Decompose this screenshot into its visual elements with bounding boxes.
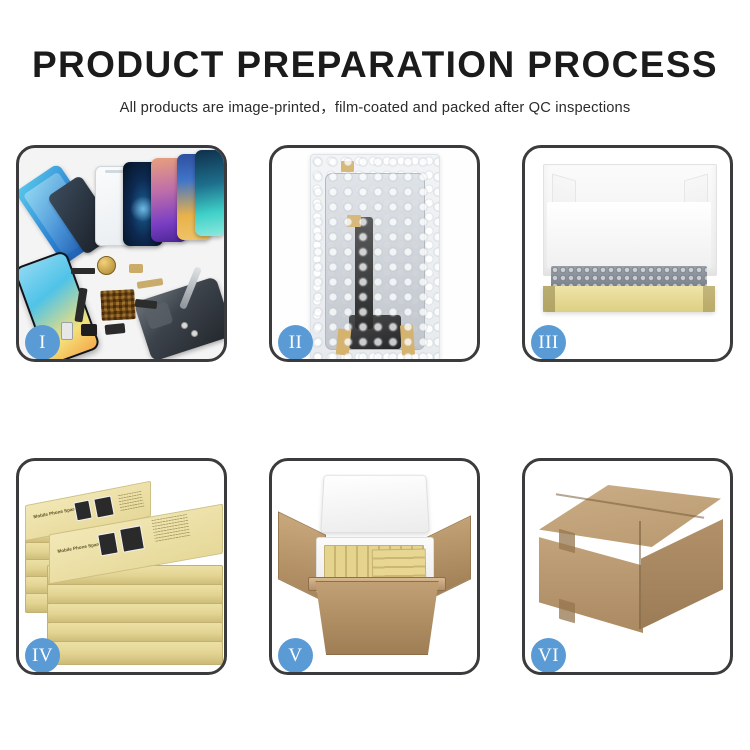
screw-1-icon [181,322,188,329]
earpiece-speaker-icon [71,268,95,274]
tape-piece-4-icon [400,325,415,356]
box-art-phone-front-2 [119,525,145,552]
step-panel-3: III [522,145,733,362]
side-button-icon [61,322,73,340]
sim-tray-icon [105,323,126,335]
box-art-phone-front-1 [97,532,119,557]
step-badge-3: III [531,325,566,360]
yellow-box-right-end [703,286,715,312]
page-subtitle: All products are image-printed，film-coat… [0,83,750,117]
step-badge-1: I [25,325,60,360]
step-panel-4: Mobile Phone Spare Parts Mobile Phone Sp… [16,458,227,675]
carton-tape-upper [559,529,575,554]
foam-lid [320,475,430,533]
camera-module-icon [129,264,143,273]
screen-flex-cable-icon [355,217,373,329]
header: PRODUCT PREPARATION PROCESS All products… [0,0,750,117]
step-panel-1: I [16,145,227,362]
foam-sheet [547,202,711,268]
stacked-box-f4 [47,622,223,643]
yellow-box-front [543,286,715,312]
step-badge-6: VI [531,638,566,673]
step-panel-5: V [269,458,480,675]
bubble-wrap-bag [310,154,440,359]
tape-piece-3-icon [336,328,352,355]
phone-display-teal-icon [195,150,224,236]
loudspeaker-icon [81,324,97,336]
step-badge-5: V [278,638,313,673]
flex-cable-2-icon [137,278,164,289]
tape-piece-1-icon [341,161,354,172]
phone-housing-icon [134,276,224,359]
step-panel-2: II [269,145,480,362]
logic-board-icon [100,289,136,321]
page-title: PRODUCT PREPARATION PROCESS [0,0,750,83]
stacked-box-f5 [47,641,223,665]
step-panel-6: VI [522,458,733,675]
screw-2-icon [191,330,198,337]
screen-connector-icon [349,315,401,349]
carton-vertical-edge [639,521,641,629]
process-steps-grid: I II [16,145,734,677]
vibration-motor-icon [97,256,116,275]
sealed-carton-left-face [539,531,643,633]
product-preparation-process-infographic: PRODUCT PREPARATION PROCESS All products… [0,0,750,750]
step-badge-4: IV [25,638,60,673]
yellow-box-left-end [543,286,555,312]
step-badge-2: II [278,325,313,360]
box-art-phone-back-1 [73,500,92,522]
stacked-box-f2 [47,584,223,605]
stacked-box-f3 [47,603,223,624]
carton-body [310,581,444,655]
tape-piece-2-icon [347,215,361,227]
carton-tape-lower [559,599,575,624]
box-art-phone-back-2 [93,495,114,518]
